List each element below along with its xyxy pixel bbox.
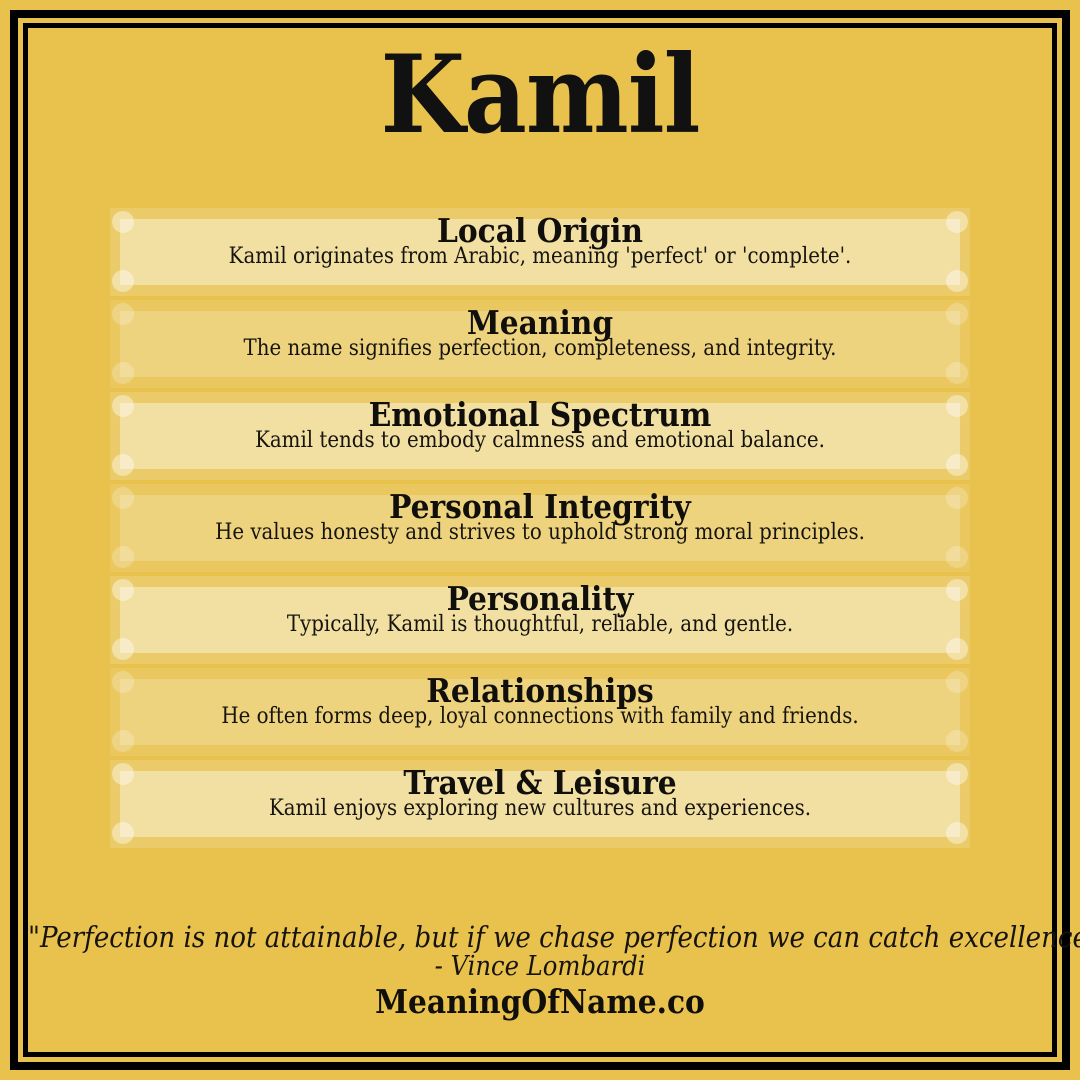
card-text: Local OriginKamil originates from Arabic… xyxy=(110,214,970,268)
card-heading: Local Origin xyxy=(110,214,970,248)
poster-content: Kamil Local OriginKamil originates from … xyxy=(28,28,1052,1052)
site-name: MeaningOfName.co xyxy=(28,984,1052,1020)
card-heading: Meaning xyxy=(110,306,970,340)
card-corner-dot-bl xyxy=(112,454,134,476)
section-card: Local OriginKamil originates from Arabic… xyxy=(110,208,970,296)
section-card: RelationshipsHe often forms deep, loyal … xyxy=(110,668,970,756)
section-card: Personal IntegrityHe values honesty and … xyxy=(110,484,970,572)
card-text: PersonalityTypically, Kamil is thoughtfu… xyxy=(110,582,970,636)
card-corner-dot-br xyxy=(946,730,968,752)
card-corner-dot-br xyxy=(946,362,968,384)
card-description: Kamil enjoys exploring new cultures and … xyxy=(110,797,970,820)
card-corner-dot-bl xyxy=(112,638,134,660)
card-corner-dot-br xyxy=(946,638,968,660)
card-corner-dot-br xyxy=(946,546,968,568)
card-corner-dot-br xyxy=(946,822,968,844)
page-title: Kamil xyxy=(28,36,1052,154)
card-description: Kamil originates from Arabic, meaning 'p… xyxy=(110,245,970,268)
card-corner-dot-br xyxy=(946,270,968,292)
quote-text: "Perfection is not attainable, but if we… xyxy=(28,922,1052,952)
card-text: MeaningThe name signifies perfection, co… xyxy=(110,306,970,360)
card-text: RelationshipsHe often forms deep, loyal … xyxy=(110,674,970,728)
card-heading: Personality xyxy=(110,582,970,616)
card-text: Personal IntegrityHe values honesty and … xyxy=(110,490,970,544)
section-card: PersonalityTypically, Kamil is thoughtfu… xyxy=(110,576,970,664)
section-card: Travel & LeisureKamil enjoys exploring n… xyxy=(110,760,970,848)
poster: Kamil Local OriginKamil originates from … xyxy=(0,0,1080,1080)
card-description: He often forms deep, loyal connections w… xyxy=(110,705,970,728)
card-description: He values honesty and strives to uphold … xyxy=(110,521,970,544)
card-corner-dot-br xyxy=(946,454,968,476)
quote-author: - Vince Lombardi xyxy=(28,952,1052,982)
card-description: Kamil tends to embody calmness and emoti… xyxy=(110,429,970,452)
card-corner-dot-bl xyxy=(112,270,134,292)
section-card: MeaningThe name signifies perfection, co… xyxy=(110,300,970,388)
card-corner-dot-bl xyxy=(112,362,134,384)
card-description: Typically, Kamil is thoughtful, reliable… xyxy=(110,613,970,636)
card-corner-dot-bl xyxy=(112,822,134,844)
card-heading: Personal Integrity xyxy=(110,490,970,524)
card-heading: Emotional Spectrum xyxy=(110,398,970,432)
section-card: Emotional SpectrumKamil tends to embody … xyxy=(110,392,970,480)
card-heading: Travel & Leisure xyxy=(110,766,970,800)
card-corner-dot-bl xyxy=(112,730,134,752)
card-text: Emotional SpectrumKamil tends to embody … xyxy=(110,398,970,452)
footer: "Perfection is not attainable, but if we… xyxy=(28,922,1052,1020)
card-description: The name signifies perfection, completen… xyxy=(110,337,970,360)
card-text: Travel & LeisureKamil enjoys exploring n… xyxy=(110,766,970,820)
card-corner-dot-bl xyxy=(112,546,134,568)
card-heading: Relationships xyxy=(110,674,970,708)
